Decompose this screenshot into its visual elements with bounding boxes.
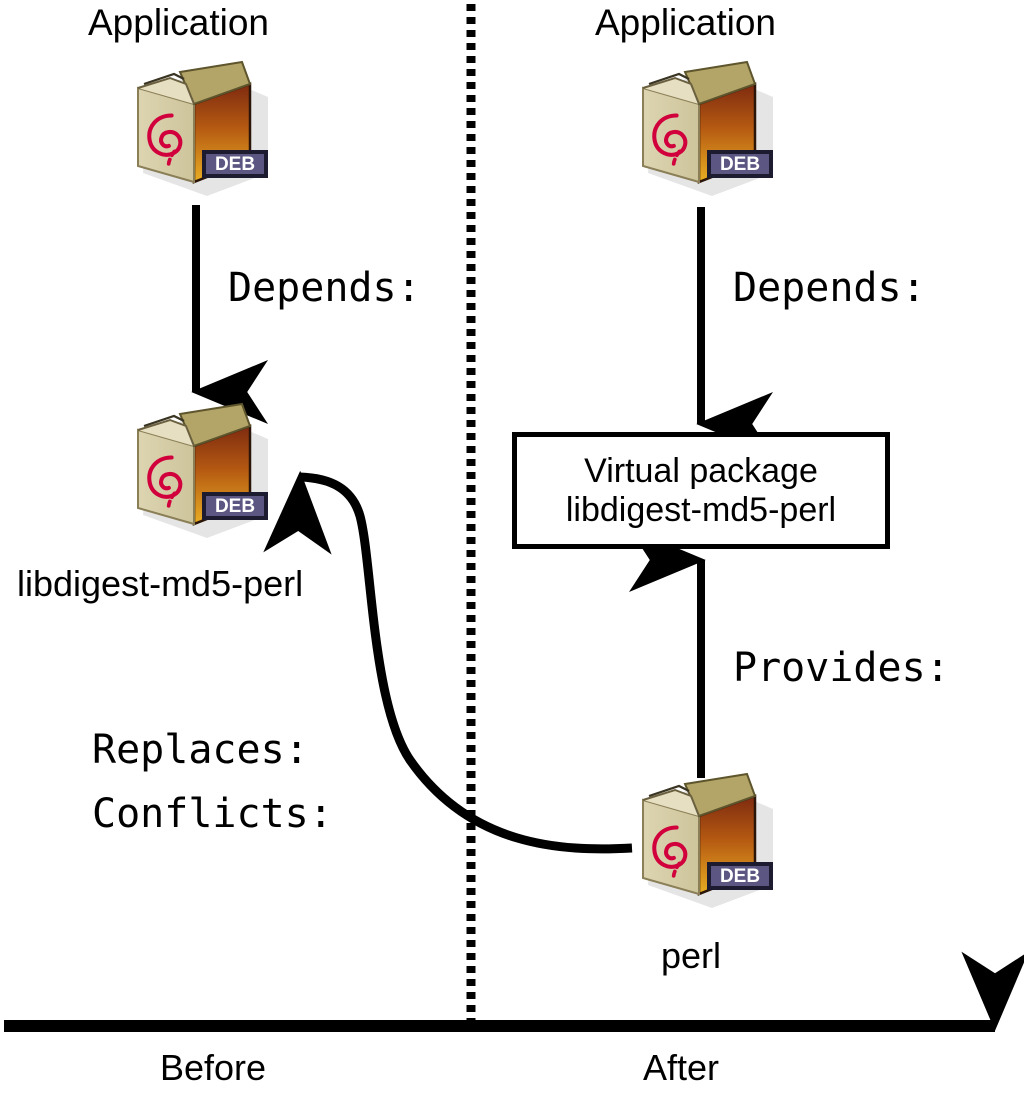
- deb-badge-text: DEB: [720, 866, 760, 887]
- after-depends-label: Depends:: [733, 268, 926, 308]
- deb-badge-text: DEB: [215, 154, 255, 175]
- before-depends-label: Depends:: [228, 268, 421, 308]
- before-package-label: libdigest-md5-perl: [17, 566, 303, 602]
- debian-package-icon-libdigest-md5-perl: DEB: [124, 400, 272, 540]
- debian-package-icon: DEB: [629, 58, 777, 198]
- timeline-label-after: After: [643, 1050, 719, 1086]
- deb-badge: DEB: [202, 492, 268, 520]
- replaces-label: Replaces:: [92, 730, 309, 770]
- deb-badge: DEB: [707, 150, 773, 178]
- debian-package-icon-perl: DEB: [629, 770, 777, 910]
- after-header-application: Application: [595, 4, 776, 41]
- debian-package-icon: DEB: [124, 58, 272, 198]
- diagram-canvas: DEB DEB: [0, 0, 1024, 1094]
- debian-package-icon: DEB: [124, 400, 272, 540]
- virtual-package-line2: libdigest-md5-perl: [566, 491, 836, 529]
- deb-badge: DEB: [707, 862, 773, 890]
- after-provides-label: Provides:: [733, 648, 950, 688]
- debian-package-icon-before-application: DEB: [124, 58, 272, 198]
- conflicts-label: Conflicts:: [92, 794, 333, 834]
- after-package-label: perl: [661, 938, 721, 974]
- deb-badge-text: DEB: [720, 154, 760, 175]
- virtual-package-box: Virtual package libdigest-md5-perl: [512, 432, 890, 549]
- virtual-package-line1: Virtual package: [584, 452, 818, 490]
- timeline-label-before: Before: [160, 1050, 266, 1086]
- debian-package-icon: DEB: [629, 770, 777, 910]
- deb-badge-text: DEB: [215, 496, 255, 517]
- deb-badge: DEB: [202, 150, 268, 178]
- before-header-application: Application: [88, 4, 269, 41]
- debian-package-icon-after-application: DEB: [629, 58, 777, 198]
